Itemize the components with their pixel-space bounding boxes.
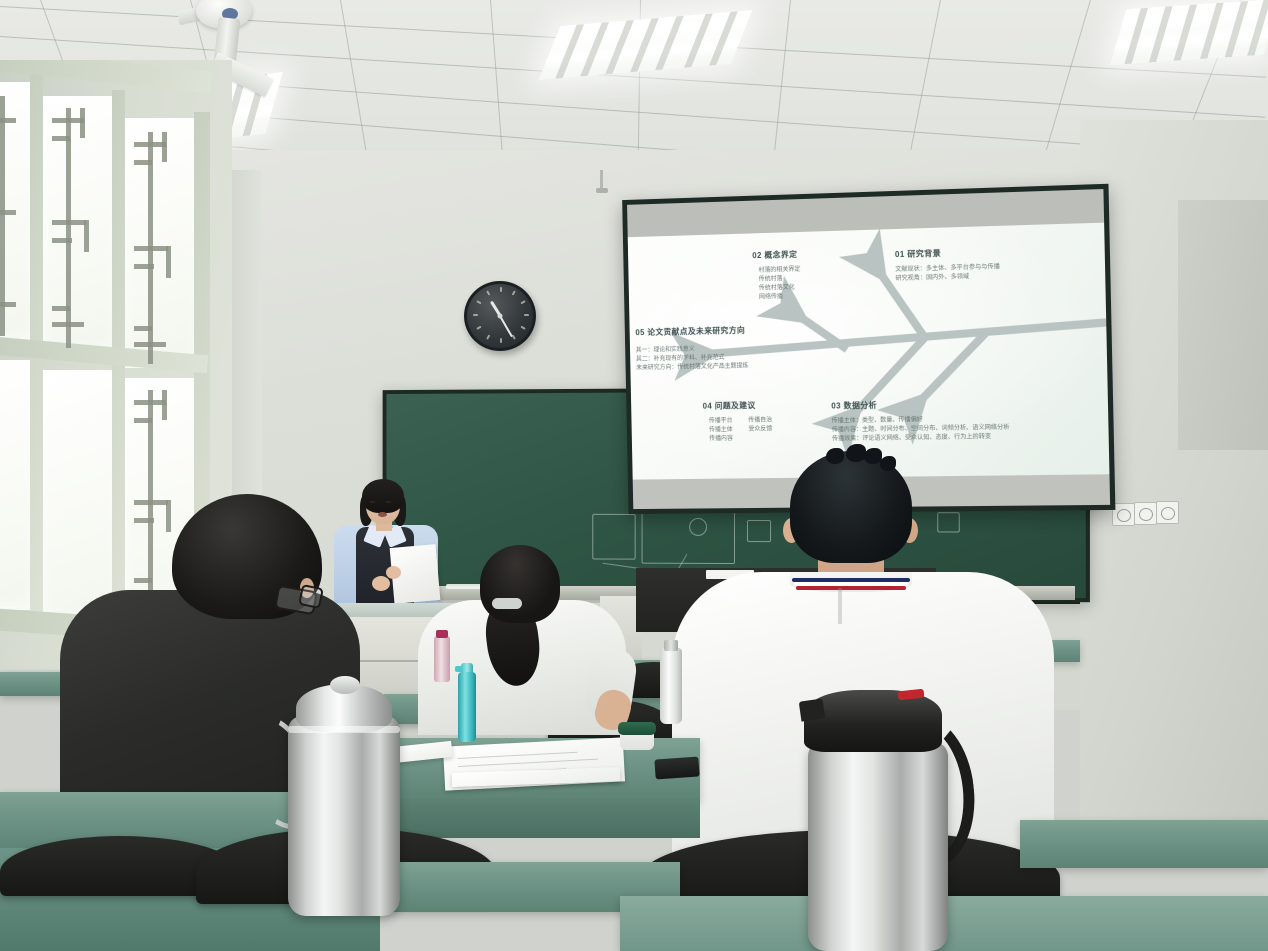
side-desk (1020, 820, 1268, 868)
window-grille (148, 390, 153, 620)
presenter-mouth (378, 512, 387, 517)
thermos-body (288, 716, 400, 916)
slide-section-line: 传播内容 (709, 434, 733, 443)
power-outlet[interactable] (1156, 501, 1179, 524)
slide-section-05: 05 论文贡献点及未来研究方向 其一：理论和实践意义 其二：补充现有的学科、补充… (635, 325, 748, 373)
chalk-sketch (937, 512, 960, 532)
pink-bottle-cap[interactable] (436, 630, 448, 638)
chalk-sketch (642, 510, 735, 564)
power-outlet[interactable] (1112, 503, 1135, 526)
eyeglasses (298, 584, 324, 609)
wall-clock (464, 281, 536, 351)
spray-bottle[interactable] (458, 672, 476, 742)
clock-center-pin (498, 314, 503, 319)
slide-section-line: 网络传播 (759, 292, 801, 302)
slide-section-line: 传播主体 (709, 425, 733, 434)
slide-section-01: 01 研究背景 文献现状：多主体、多平台参与与传播 研究视角：国内外、多领域 (895, 246, 1000, 283)
collar-stripe-white (794, 582, 908, 586)
pink-bottle[interactable] (434, 636, 450, 682)
slide-section-02: 02 概念界定 村落的相关界定 传统村落 传统村落文化 网络传播 (752, 249, 801, 302)
slide-section-line: 传播自治 (748, 415, 772, 424)
slide-section-03: 03 数据分析 传播主体：类型、数量、传播偏好 传播内容：主题、时间分布、空间分… (831, 398, 1010, 444)
thermos-body (808, 742, 948, 951)
window-grille (66, 108, 71, 348)
student-desk-front (380, 798, 700, 838)
presenter-hand (372, 576, 390, 591)
right-wall-panel (1178, 200, 1268, 450)
presentation-slide: 01 研究背景 文献现状：多主体、多平台参与与传播 研究视角：国内外、多领域 0… (628, 223, 1110, 480)
slide-section-heading: 04 问题及建议 (703, 400, 772, 412)
water-bottle-cap[interactable] (664, 640, 678, 651)
slide-section-heading: 03 数据分析 (831, 398, 1009, 412)
student-middle-hair (480, 545, 560, 623)
collar-stripe-red (796, 586, 906, 590)
chalk-sketch (689, 518, 707, 536)
window-pane (40, 96, 118, 354)
chalk-sketch (747, 520, 771, 542)
thermos-knob (330, 676, 360, 694)
thermos-highlight (288, 726, 400, 733)
slide-section-line: 受众反馈 (748, 424, 772, 433)
collar-stripe-blue (792, 578, 910, 582)
slide-section-heading: 05 论文贡献点及未来研究方向 (635, 325, 748, 338)
clock-minute-hand (499, 316, 513, 338)
green-cup-lid[interactable] (618, 722, 656, 735)
slide-section-line: 传播平台 (709, 416, 733, 425)
window-pane (40, 370, 118, 620)
fluorescent-light-fixture (1110, 0, 1268, 65)
slide-section-heading: 02 概念界定 (752, 249, 800, 261)
thermos-spout (799, 698, 826, 721)
chalk-sketch (592, 514, 635, 560)
hair-tie (492, 598, 522, 609)
thermos-cap (804, 690, 942, 752)
presenter-hair (362, 479, 404, 513)
power-outlet[interactable] (1134, 502, 1157, 525)
screen-mount-hook (596, 188, 608, 193)
slide-section-04: 04 问题及建议 传播平台 传播主体 传播内容 传播自治 受众反馈 (703, 400, 773, 444)
presenter-hand (386, 566, 401, 579)
water-bottle[interactable] (660, 648, 682, 724)
polo-placket (838, 588, 842, 624)
smartphone[interactable] (654, 756, 699, 779)
classroom-photo: 01 研究背景 文献现状：多主体、多平台参与与传播 研究视角：国内外、多领域 0… (0, 0, 1268, 951)
slide-section-heading: 01 研究背景 (895, 246, 1000, 260)
